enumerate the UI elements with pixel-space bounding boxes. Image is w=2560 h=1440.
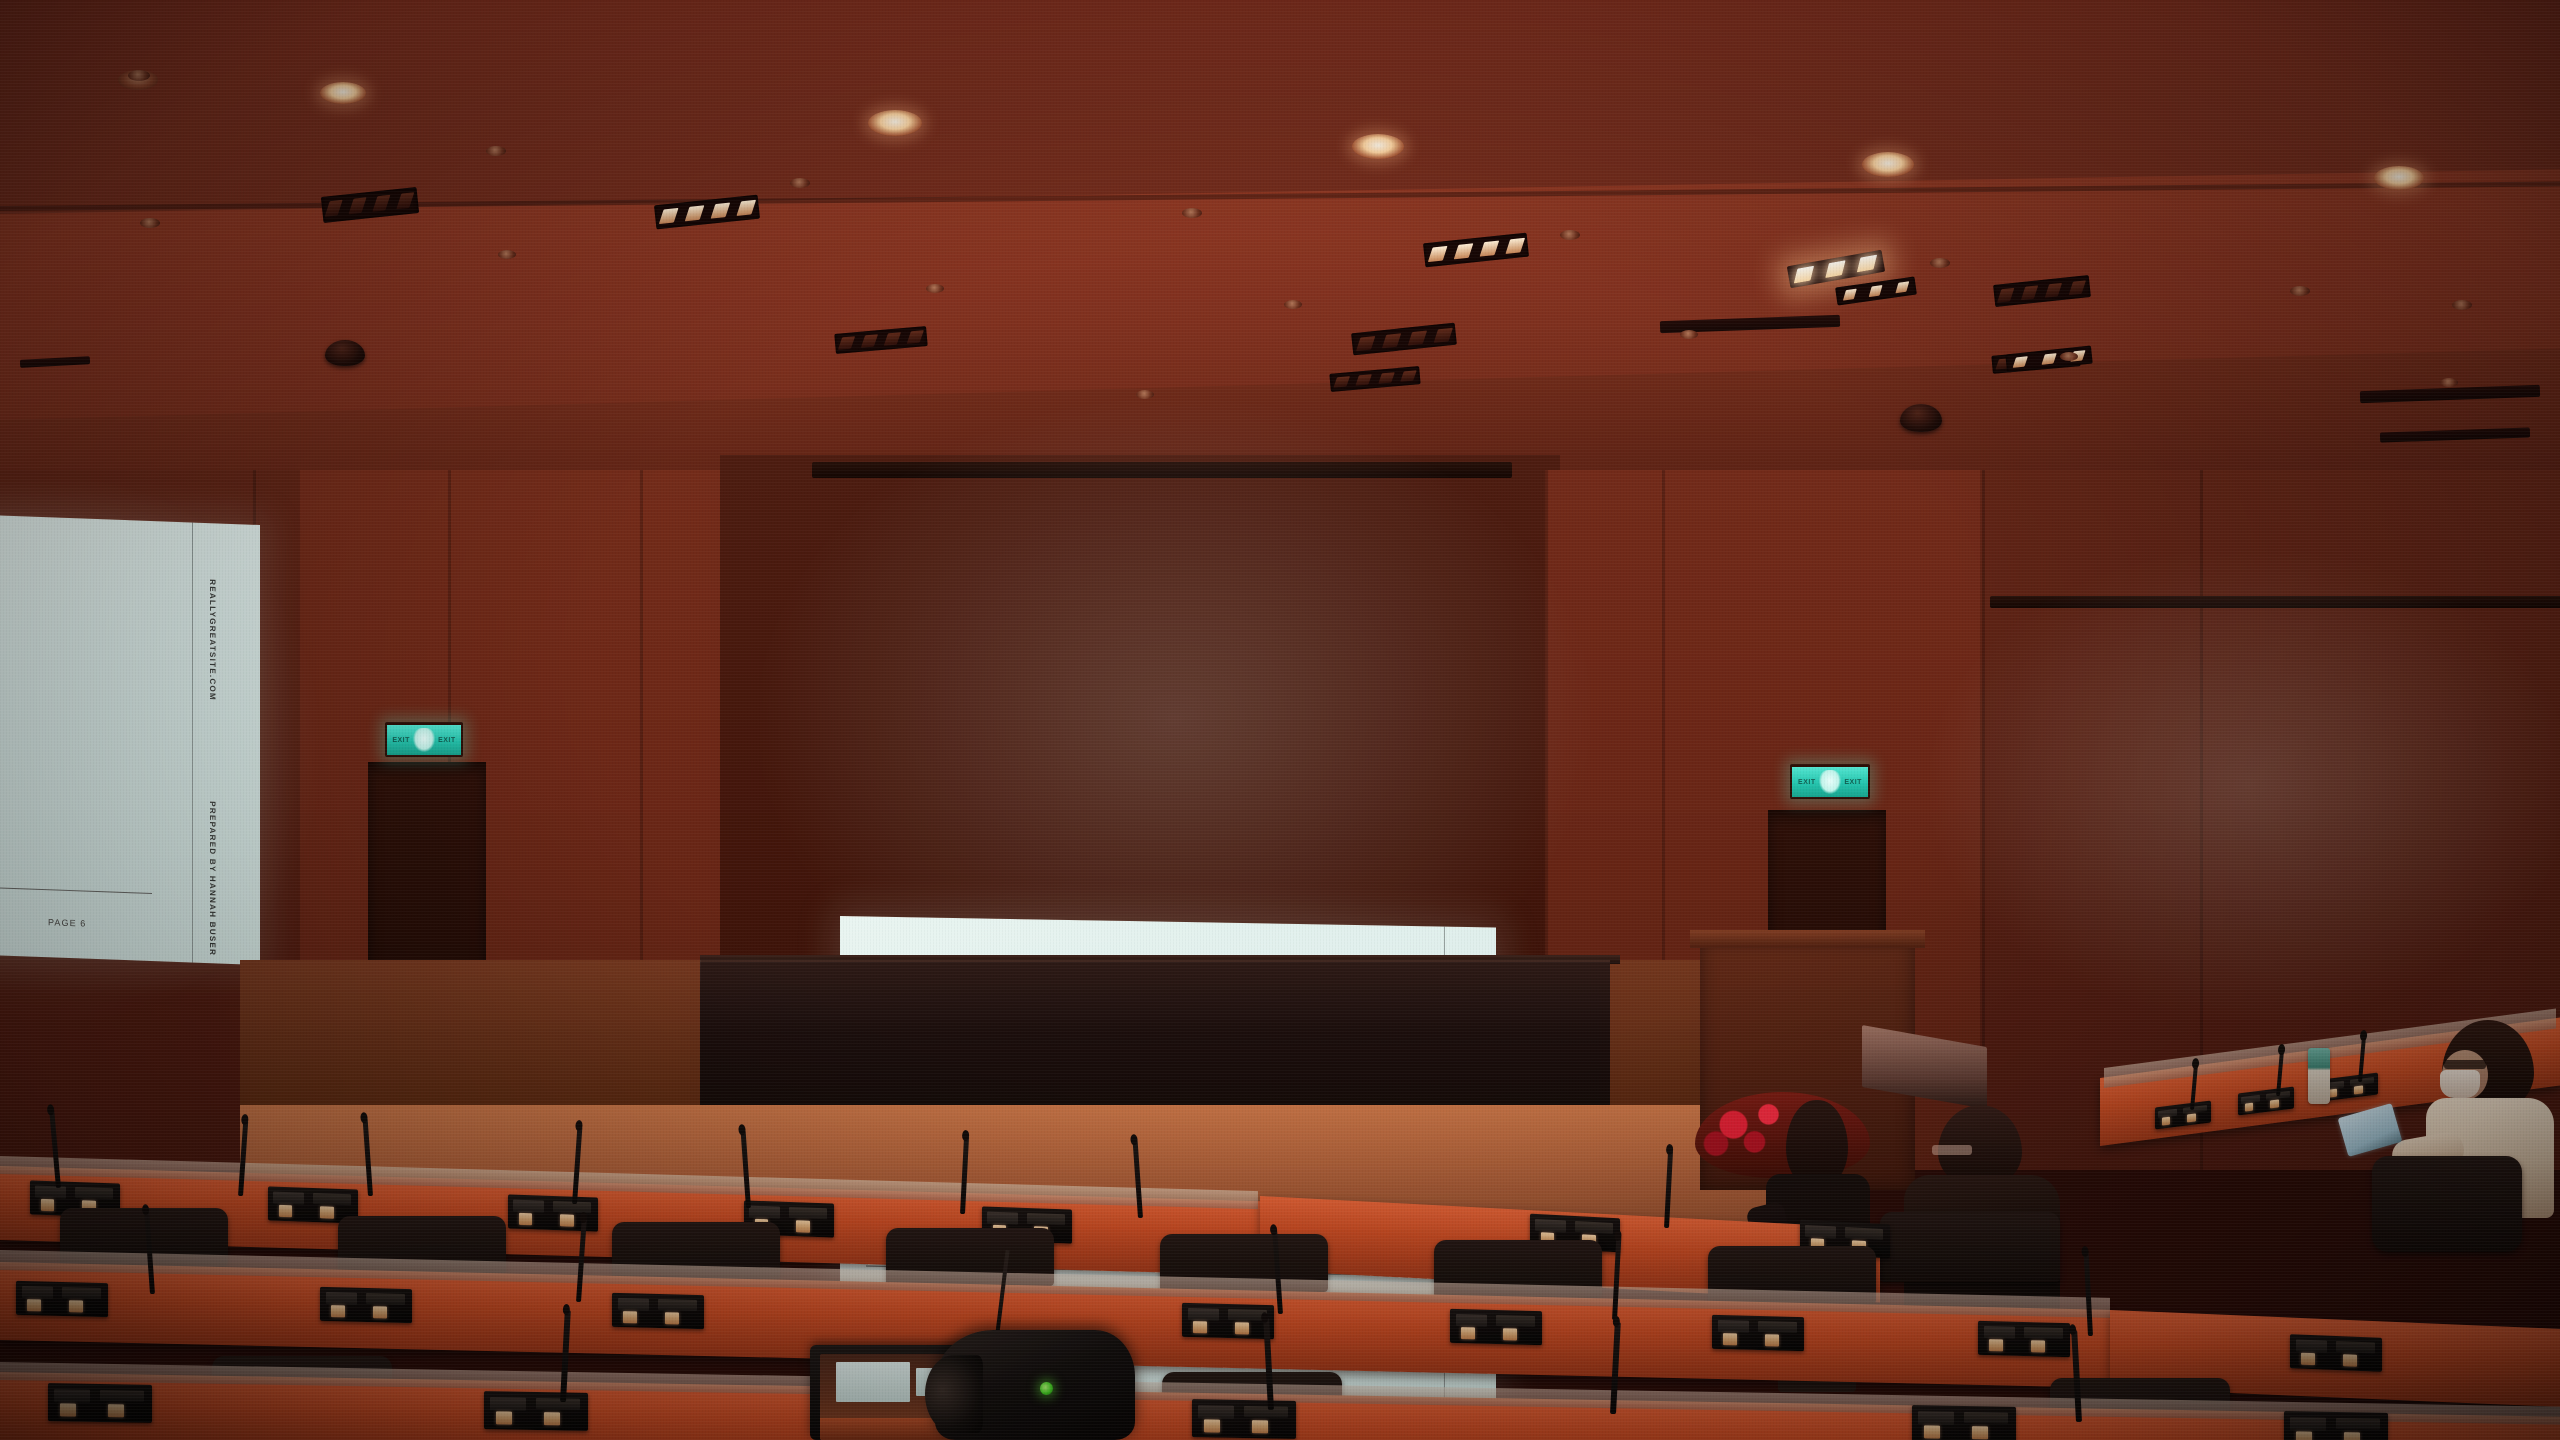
eyeglasses-icon: [1932, 1145, 1972, 1155]
delegate-microphone-unit[interactable]: [1978, 1321, 2070, 1357]
mic-nameplate: [789, 1207, 827, 1219]
mic-display: [1718, 1320, 1749, 1332]
exit-label-left-2: EXIT: [438, 737, 456, 744]
mic-nameplate: [2336, 1341, 2375, 1353]
mic-vote-button[interactable]: [2187, 1114, 2195, 1123]
ceiling-dome-camera-icon: [325, 340, 365, 366]
ceiling-downlight-icon: [2374, 166, 2424, 190]
sprinkler-head-icon: [2440, 378, 2458, 387]
mic-nameplate: [1244, 1406, 1288, 1418]
delegate-microphone-unit[interactable]: [612, 1293, 704, 1329]
sprinkler-head-icon: [1284, 300, 1302, 309]
mic-display: [513, 1200, 544, 1213]
exit-label-right-2: EXIT: [1844, 779, 1862, 786]
water-bottle: [2308, 1048, 2330, 1104]
sprinkler-head-icon: [1560, 230, 1580, 240]
sprinkler-head-icon: [2060, 352, 2078, 361]
delegate-microphone-unit[interactable]: [1712, 1315, 1804, 1351]
sprinkler-head-icon: [1930, 258, 1950, 268]
mic-talk-button[interactable]: [279, 1204, 293, 1217]
mic-display: [749, 1206, 780, 1219]
mic-display: [54, 1389, 89, 1403]
delegate-microphone-unit[interactable]: [16, 1281, 108, 1317]
mic-talk-button[interactable]: [2301, 1352, 2315, 1365]
preview-slide-main: [836, 1362, 910, 1402]
running-person-exit-icon: [413, 728, 435, 751]
ceiling-downlight-icon: [320, 82, 366, 104]
mic-display: [1188, 1308, 1219, 1320]
mic-vote-button[interactable]: [2354, 1086, 2362, 1095]
sprinkler-head-icon: [790, 178, 810, 188]
mic-talk-button[interactable]: [623, 1311, 637, 1324]
mic-talk-button[interactable]: [1193, 1321, 1207, 1334]
projection-screen-left: PAGE 6 REALLYGREATSITE.COM PREPARED BY H…: [0, 509, 260, 965]
mic-talk-button[interactable]: [41, 1198, 55, 1211]
stage-front-panel: [700, 960, 1610, 1125]
mic-talk-button[interactable]: [331, 1305, 345, 1318]
mic-vote-button[interactable]: [2270, 1100, 2278, 1109]
delegate-microphone-unit[interactable]: [1192, 1399, 1296, 1439]
slide-page-number-left: PAGE 6: [48, 917, 86, 928]
mic-vote-button[interactable]: [108, 1404, 124, 1418]
eyeglasses-icon: [2444, 1060, 2486, 1069]
screen-recess-wall: [720, 455, 1560, 975]
mic-vote-button[interactable]: [544, 1412, 560, 1426]
delegate-microphone-unit[interactable]: [1450, 1309, 1542, 1345]
mic-display: [326, 1292, 357, 1304]
podium-top-edge: [1690, 930, 1925, 948]
exit-label-right: EXIT: [1798, 779, 1816, 786]
recording-led-icon: [1040, 1382, 1053, 1395]
mic-display: [618, 1298, 649, 1310]
mic-vote-button[interactable]: [69, 1300, 83, 1313]
mic-display: [22, 1286, 53, 1298]
mic-nameplate: [2183, 1105, 2207, 1114]
mic-talk-button[interactable]: [2162, 1117, 2170, 1126]
mic-talk-button[interactable]: [2245, 1103, 2253, 1112]
delegate-microphone-unit[interactable]: [2290, 1334, 2382, 1372]
exit-sign-face-left: EXIT EXIT: [387, 725, 461, 755]
mic-vote-button[interactable]: [2031, 1340, 2045, 1353]
exit-sign-left[interactable]: EXIT EXIT: [385, 722, 463, 757]
delegate-microphone-unit[interactable]: [484, 1391, 588, 1431]
mic-vote-button[interactable]: [1252, 1420, 1268, 1434]
ceiling-downlight-icon: [1862, 152, 1914, 177]
mic-nameplate: [536, 1398, 580, 1410]
mic-nameplate: [1575, 1221, 1613, 1233]
mic-vote-button[interactable]: [796, 1220, 810, 1233]
mic-vote-button[interactable]: [560, 1214, 574, 1227]
mic-display: [987, 1212, 1018, 1225]
mic-talk-button[interactable]: [27, 1299, 41, 1312]
sprinkler-head-icon: [1182, 208, 1202, 218]
mic-nameplate: [366, 1293, 405, 1304]
mic-nameplate: [1845, 1227, 1883, 1239]
sprinkler-head-icon: [498, 250, 516, 259]
mic-nameplate: [62, 1287, 101, 1298]
ceiling-downlight-icon: [868, 110, 922, 136]
projection-screen-housing-right: [1990, 596, 2560, 608]
running-person-exit-icon: [1819, 770, 1842, 793]
slide-rail-url-left: REALLYGREATSITE.COM: [208, 579, 217, 701]
sprinkler-head-icon: [128, 70, 150, 81]
office-chair-right: [2372, 1156, 2522, 1252]
face-mask-icon: [2440, 1070, 2480, 1098]
mic-talk-button[interactable]: [496, 1411, 512, 1425]
mic-nameplate: [658, 1299, 697, 1310]
mic-nameplate: [2024, 1327, 2063, 1338]
slide-rail-line-left: [192, 523, 193, 963]
mic-display: [1918, 1411, 1953, 1425]
mic-vote-button[interactable]: [1972, 1426, 1988, 1440]
mic-vote-button[interactable]: [1765, 1334, 1779, 1347]
exit-label-left: EXIT: [392, 737, 410, 744]
projection-screen-housing-main: [812, 462, 1512, 478]
delegate-microphone-unit[interactable]: [1182, 1303, 1274, 1339]
ceiling-downlight-icon: [1352, 134, 1404, 159]
mic-display: [35, 1186, 66, 1199]
mic-talk-button[interactable]: [60, 1403, 76, 1417]
mic-nameplate: [75, 1187, 113, 1199]
sprinkler-head-icon: [926, 284, 944, 293]
mic-vote-button[interactable]: [1503, 1328, 1517, 1341]
delegate-microphone-unit[interactable]: [2284, 1411, 2388, 1440]
mic-display: [273, 1192, 304, 1205]
sprinkler-head-icon: [486, 146, 506, 156]
sprinkler-head-icon: [140, 218, 160, 228]
mic-vote-button[interactable]: [2344, 1432, 2360, 1440]
mic-vote-button[interactable]: [2343, 1354, 2357, 1367]
mic-display: [1984, 1326, 2015, 1338]
mic-vote-button[interactable]: [320, 1206, 334, 1219]
mic-talk-button[interactable]: [1723, 1333, 1737, 1346]
mic-display: [2290, 1417, 2325, 1431]
mic-vote-button[interactable]: [373, 1306, 387, 1319]
mic-talk-button[interactable]: [519, 1212, 533, 1225]
sprinkler-head-icon: [2290, 286, 2310, 296]
mic-talk-button[interactable]: [2296, 1431, 2312, 1440]
delegate-microphone-unit[interactable]: [48, 1383, 152, 1423]
mic-display: [1456, 1314, 1487, 1326]
mic-vote-button[interactable]: [1235, 1322, 1249, 1335]
mic-display: [1805, 1225, 1836, 1238]
sprinkler-head-icon: [1136, 390, 1154, 399]
mic-display: [1535, 1219, 1566, 1232]
delegate-microphone-unit[interactable]: [1912, 1405, 2016, 1440]
exit-sign-face-right: EXIT EXIT: [1792, 767, 1868, 797]
mic-vote-button[interactable]: [665, 1312, 679, 1325]
mic-nameplate: [1496, 1315, 1535, 1326]
mic-nameplate: [313, 1193, 351, 1205]
mic-talk-button[interactable]: [1924, 1425, 1940, 1439]
exit-sign-right[interactable]: EXIT EXIT: [1790, 764, 1870, 799]
slide-rule-left: [0, 881, 152, 894]
mic-display: [2296, 1340, 2327, 1353]
ceiling-dome-camera-icon: [1900, 404, 1942, 432]
auditorium-scene: PAGE 6 REALLYGREATSITE.COM PREPARED BY H…: [0, 0, 2560, 1440]
mic-talk-button[interactable]: [1461, 1327, 1475, 1340]
mic-nameplate: [2336, 1418, 2380, 1430]
mic-nameplate: [1758, 1321, 1797, 1332]
delegate-microphone-unit[interactable]: [320, 1287, 412, 1323]
mic-nameplate: [1027, 1213, 1065, 1225]
mic-nameplate: [100, 1390, 144, 1402]
mic-display: [490, 1397, 525, 1411]
mic-display: [1198, 1405, 1233, 1419]
sprinkler-head-icon: [2452, 300, 2472, 310]
office-chair-left: [1880, 1212, 2060, 1282]
mic-talk-button[interactable]: [1204, 1419, 1220, 1433]
camcorder-lens-icon: [925, 1355, 983, 1433]
mic-talk-button[interactable]: [1989, 1339, 2003, 1352]
mic-nameplate: [1964, 1412, 2008, 1424]
slide-rail-credit-left: PREPARED BY HANNAH BUSER: [208, 801, 217, 956]
sprinkler-head-icon: [1680, 330, 1698, 339]
